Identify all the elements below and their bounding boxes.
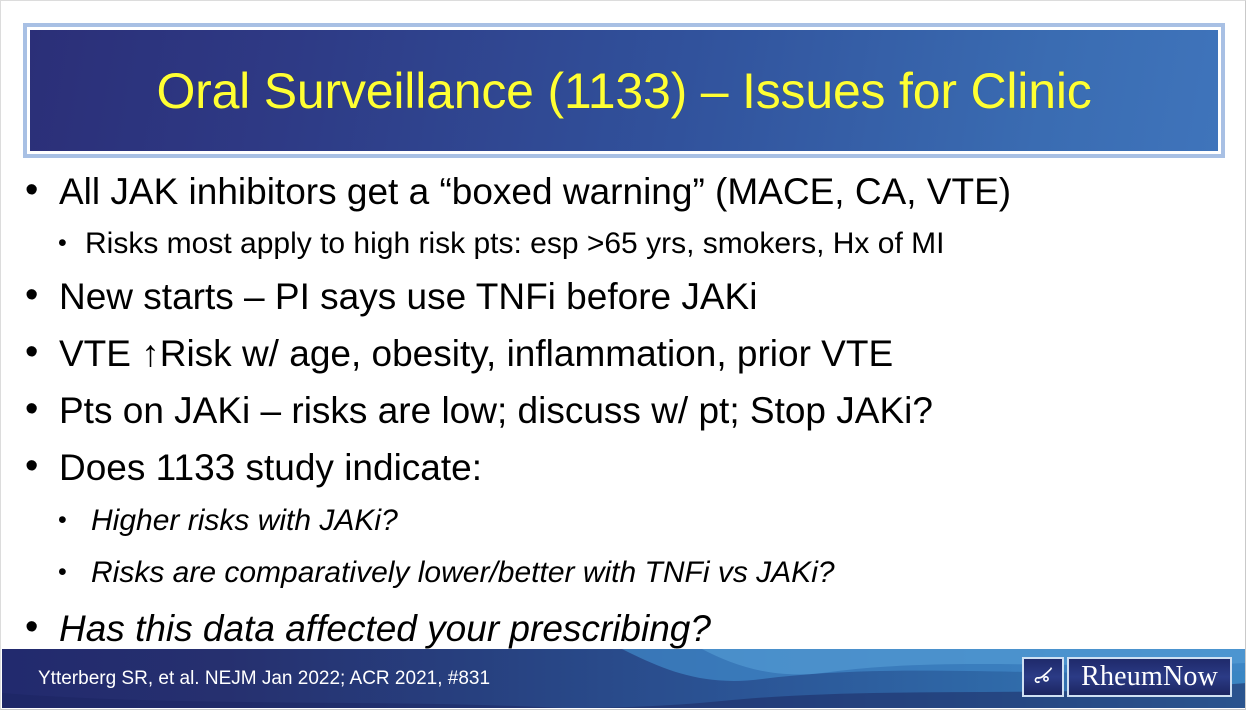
sub-bullet-text: Risks most apply to high risk pts: esp >… [85,221,944,267]
sub-bullet-text: Higher risks with JAKi? [91,497,398,545]
joint-glyph [1030,664,1056,690]
bullet-item: • Does 1133 study indicate: [1,440,1246,497]
bullet-marker-icon: • [25,383,59,436]
bullet-text: New starts – PI says use TNFi before JAK… [59,269,757,324]
bullet-marker-icon: • [25,269,59,322]
slide-title-fill: Oral Surveillance (1133) – Issues for Cl… [30,30,1218,151]
bullet-text: Pts on JAKi – risks are low; discuss w/ … [59,383,933,438]
slide-footer: Ytterberg SR, et al. NEJM Jan 2022; ACR … [2,649,1246,708]
bullet-text: VTE ↑Risk w/ age, obesity, inflammation,… [59,326,893,381]
rheumnow-joint-icon [1022,657,1064,697]
bullet-text: Does 1133 study indicate: [59,440,482,495]
logo-text: RheumNow [1081,663,1218,691]
bullet-text: Has this data affected your prescribing? [59,601,711,656]
rheumnow-logo[interactable]: RheumNow [1020,655,1234,699]
bullet-item: • Pts on JAKi – risks are low; discuss w… [1,383,1246,440]
citation-text: Ytterberg SR, et al. NEJM Jan 2022; ACR … [38,649,490,708]
bullet-marker-icon: • [25,440,59,493]
bullet-marker-icon: • [58,221,85,265]
bullet-marker-icon: • [25,326,59,379]
sub-bullet-item: • Risks most apply to high risk pts: esp… [1,221,1246,269]
bullet-item: • VTE ↑Risk w/ age, obesity, inflammatio… [1,326,1246,383]
bullet-marker-icon: • [25,601,59,654]
sub-bullet-text: Risks are comparatively lower/better wit… [91,549,835,597]
slide-title-box: Oral Surveillance (1133) – Issues for Cl… [23,23,1225,158]
sub-bullet-item: • Risks are comparatively lower/better w… [1,549,1246,601]
slide-body: • All JAK inhibitors get a “boxed warnin… [1,164,1246,642]
slide-canvas: Oral Surveillance (1133) – Issues for Cl… [0,0,1246,710]
rheumnow-wordmark: RheumNow [1067,657,1232,697]
bullet-item: • All JAK inhibitors get a “boxed warnin… [1,164,1246,221]
page-title: Oral Surveillance (1133) – Issues for Cl… [156,66,1091,116]
bullet-text: All JAK inhibitors get a “boxed warning”… [59,164,1011,219]
sub-bullet-item: • Higher risks with JAKi? [1,497,1246,549]
bullet-marker-icon: • [58,549,91,595]
bullet-item: • New starts – PI says use TNFi before J… [1,269,1246,326]
bullet-marker-icon: • [25,164,59,217]
bullet-marker-icon: • [58,497,91,543]
